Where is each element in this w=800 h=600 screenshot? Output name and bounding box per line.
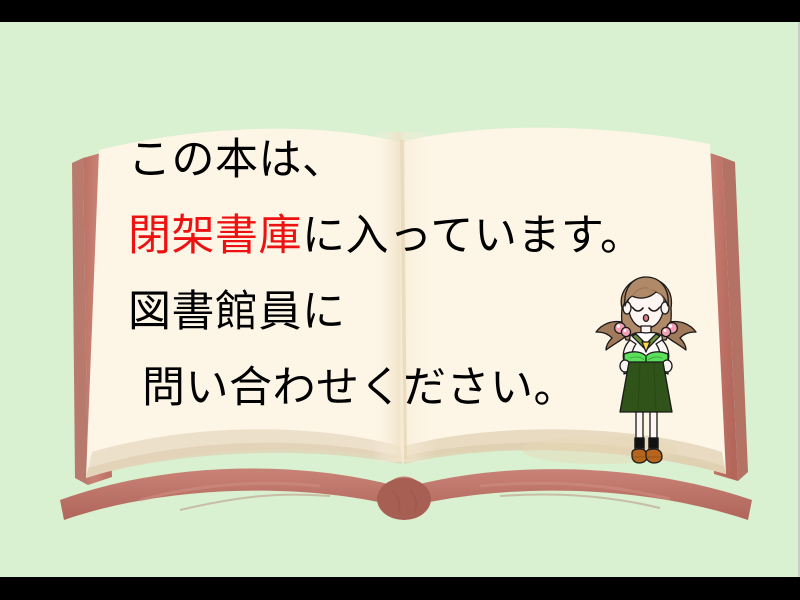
message-line-1-text: この本は、 xyxy=(128,135,346,185)
message-line-3-text: 図書館員に xyxy=(128,287,346,337)
message-line-1: この本は、 xyxy=(128,122,688,198)
girl-character-svg xyxy=(592,270,700,470)
letterbox-bottom xyxy=(0,577,800,600)
letterbox-top xyxy=(0,0,800,22)
girl-reading-illustration xyxy=(592,270,700,470)
screenshot-canvas: この本は、 閉架書庫に入っています。 図書館員に 問い合わせください。 xyxy=(0,0,800,600)
book-bottom-cover xyxy=(60,468,752,520)
shoe-right xyxy=(646,449,662,463)
message-highlight-term: 閉架書庫 xyxy=(128,211,302,261)
shoe-left xyxy=(632,449,647,463)
mouth xyxy=(643,315,648,322)
illustration-scene: この本は、 閉架書庫に入っています。 図書館員に 問い合わせください。 xyxy=(0,22,800,577)
leg-left xyxy=(636,412,643,440)
book-spine-notch xyxy=(377,478,431,520)
message-line-2-rest: に入っています。 xyxy=(302,211,644,261)
skirt xyxy=(620,362,672,412)
message-line-4-text: 問い合わせください。 xyxy=(142,363,577,413)
leg-right xyxy=(650,412,657,440)
sock-top-right xyxy=(649,438,658,448)
sock-top-left xyxy=(635,438,644,448)
message-line-2: 閉架書庫に入っています。 xyxy=(128,198,688,274)
